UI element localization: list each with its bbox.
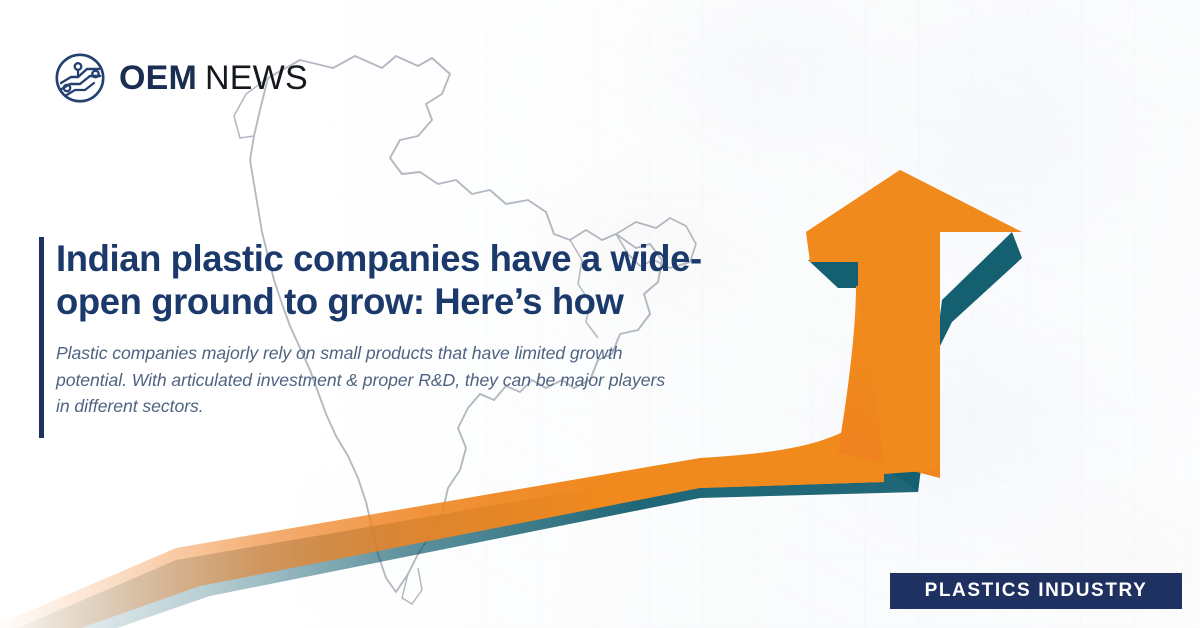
accent-bar — [39, 237, 44, 438]
globe-network-icon — [54, 52, 106, 104]
article-copy: Indian plastic companies have a wide-ope… — [56, 238, 796, 420]
category-badge[interactable]: PLASTICS INDUSTRY — [890, 573, 1182, 609]
logo-wordmark: OEMNEWS — [119, 61, 308, 95]
article-subhead: Plastic companies majorly rely on small … — [56, 340, 676, 420]
logo-text-oem: OEM — [119, 59, 197, 97]
site-logo[interactable]: OEMNEWS — [54, 52, 308, 104]
logo-text-news: NEWS — [205, 59, 308, 97]
article-banner: OEMNEWS Indian plastic companies have a … — [0, 0, 1200, 628]
category-badge-label: PLASTICS INDUSTRY — [925, 580, 1148, 602]
page-title: Indian plastic companies have a wide-ope… — [56, 238, 785, 324]
